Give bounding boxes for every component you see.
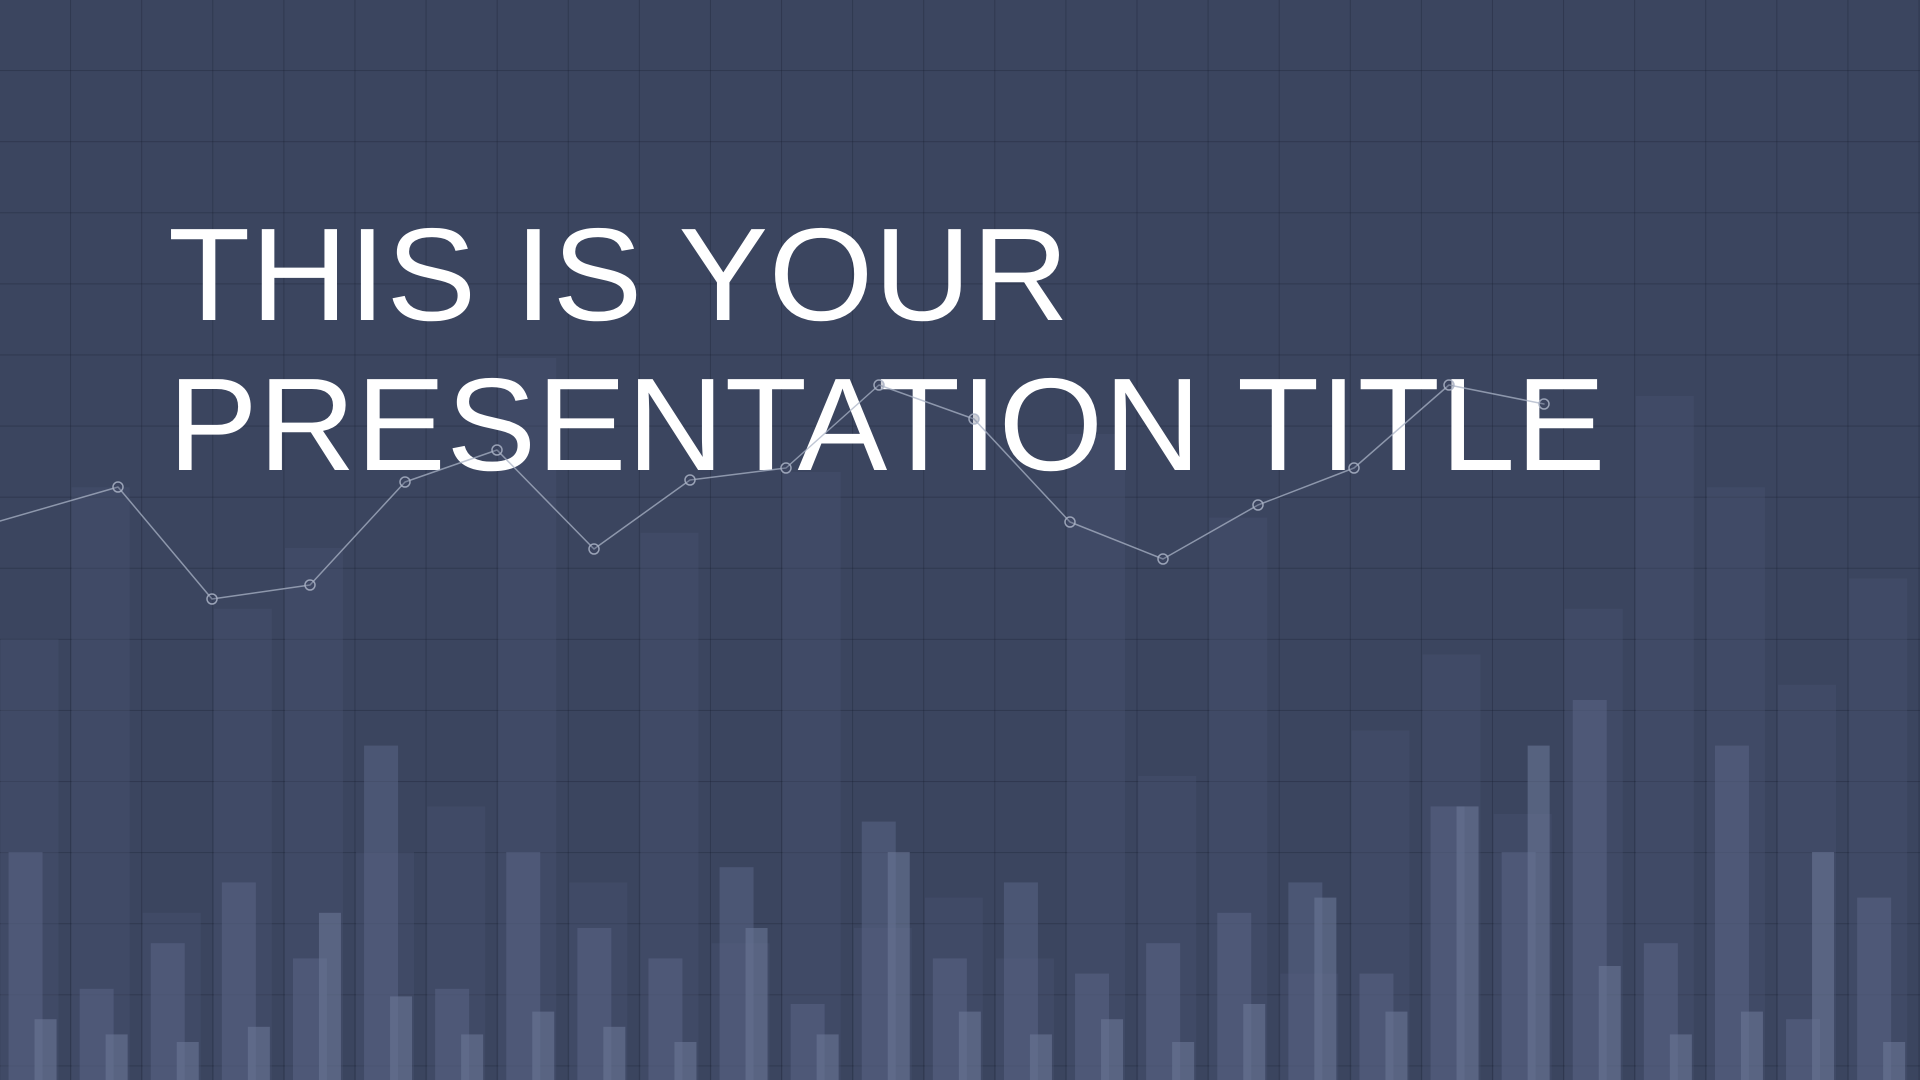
trend-line-marker bbox=[1253, 500, 1263, 510]
title-slide: THIS IS YOUR PRESENTATION TITLE bbox=[0, 0, 1920, 1080]
trend-line-marker bbox=[874, 380, 884, 390]
trend-line-marker bbox=[400, 477, 410, 487]
trend-line-marker bbox=[589, 544, 599, 554]
trend-line-marker bbox=[1349, 463, 1359, 473]
trend-line-marker bbox=[781, 463, 791, 473]
trend-line-marker bbox=[969, 414, 979, 424]
trend-line-marker bbox=[1065, 517, 1075, 527]
trend-line-path bbox=[0, 385, 1544, 599]
trend-line-marker bbox=[305, 580, 315, 590]
trend-line-markers bbox=[113, 380, 1549, 604]
trend-line-marker bbox=[492, 445, 502, 455]
trend-line-marker bbox=[207, 594, 217, 604]
trend-line-marker bbox=[113, 482, 123, 492]
trend-line-marker bbox=[1444, 380, 1454, 390]
trend-line-marker bbox=[685, 475, 695, 485]
background-line-chart bbox=[0, 0, 1920, 1080]
trend-line-marker bbox=[1539, 399, 1549, 409]
trend-line-marker bbox=[1158, 554, 1168, 564]
